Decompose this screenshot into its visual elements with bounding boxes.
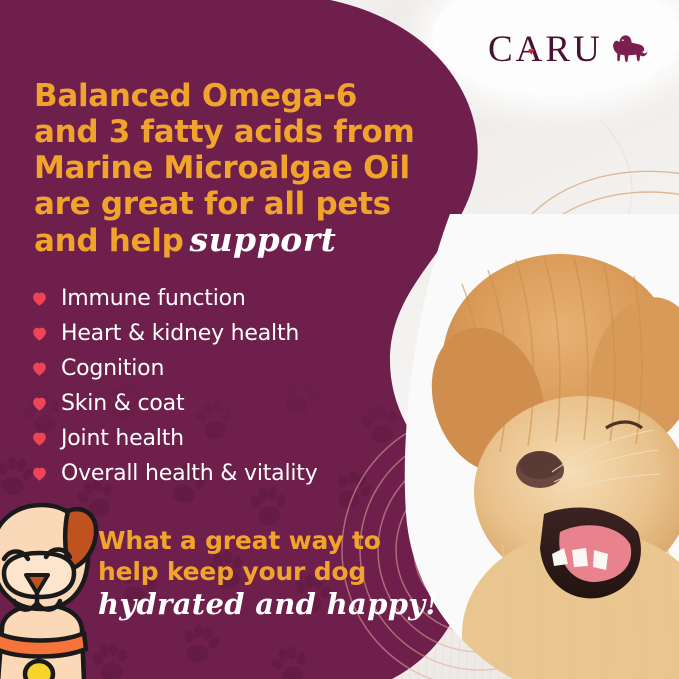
cartoon-dog-illustration xyxy=(0,497,134,679)
heart-icon xyxy=(30,359,49,378)
headline-script-word: support xyxy=(183,220,336,259)
headline-line-4: are great for all pets xyxy=(34,186,434,222)
headline-line-3: Marine Microalgae Oil xyxy=(34,150,434,186)
heart-icon xyxy=(30,289,49,308)
closing-script-line: hydrated and happy! xyxy=(98,589,428,620)
headline-line-5-prefix: and help xyxy=(34,223,183,259)
list-item-label: Skin & coat xyxy=(61,393,184,415)
dog-silhouette-icon xyxy=(607,29,648,69)
headline-line-1: Balanced Omega-6 xyxy=(34,78,434,114)
headline-line-5: and helpsupport xyxy=(34,222,434,259)
headline: Balanced Omega-6 and 3 fatty acids from … xyxy=(34,78,434,259)
list-item: Heart & kidney health xyxy=(30,316,430,351)
promo-banner: CARU ♥ Balanced Omega-6 and 3 fatty acid… xyxy=(0,0,679,679)
benefits-list: Immune function Heart & kidney health Co… xyxy=(30,281,430,491)
list-item-label: Heart & kidney health xyxy=(61,323,299,345)
heart-icon xyxy=(30,324,49,343)
closing-line-2: help keep your dog xyxy=(98,556,428,587)
caru-logo[interactable]: CARU ♥ xyxy=(488,22,648,76)
list-item-label: Cognition xyxy=(61,358,164,380)
heart-icon xyxy=(30,394,49,413)
heart-icon xyxy=(30,429,49,448)
list-item-label: Joint health xyxy=(61,428,184,450)
list-item: Joint health xyxy=(30,421,430,456)
logo-heart-icon: ♥ xyxy=(528,48,537,57)
logo-wordmark-text: CARU xyxy=(488,29,603,70)
list-item: Skin & coat xyxy=(30,386,430,421)
heart-icon xyxy=(30,464,49,483)
list-item-label: Immune function xyxy=(61,288,246,310)
list-item: Immune function xyxy=(30,281,430,316)
list-item: Overall health & vitality xyxy=(30,456,430,491)
closing-message: What a great way to help keep your dog h… xyxy=(98,525,428,620)
headline-line-2: and 3 fatty acids from xyxy=(34,114,434,150)
list-item: Cognition xyxy=(30,351,430,386)
list-item-label: Overall health & vitality xyxy=(61,463,318,485)
logo-wordmark: CARU ♥ xyxy=(488,31,603,68)
closing-line-1: What a great way to xyxy=(98,525,428,556)
